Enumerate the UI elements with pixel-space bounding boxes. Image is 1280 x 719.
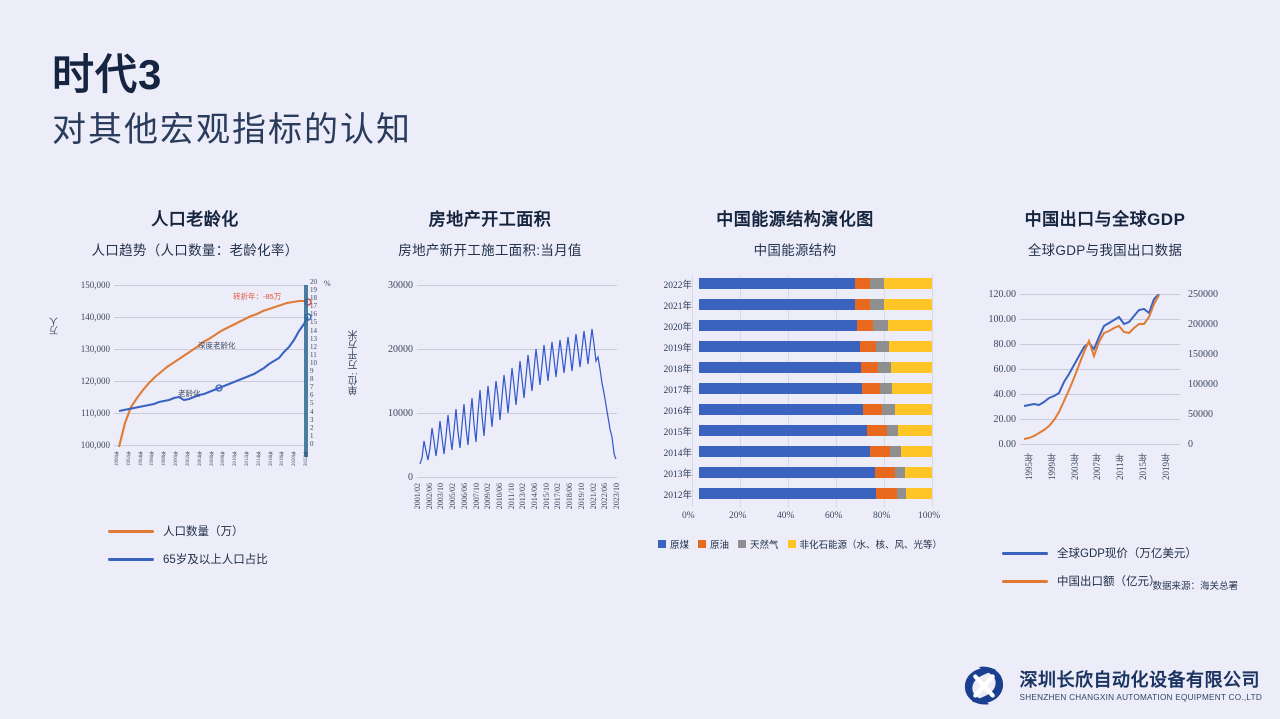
x-tick-20: 20%: [729, 511, 746, 521]
bar-segment: [699, 467, 875, 478]
panel-population-aging: 人口老龄化 人口趋势（人口数量：老龄化率） 万人 150,000 140,000…: [50, 205, 340, 567]
bar-segment: [889, 341, 932, 352]
legend-swatch-coal: [658, 540, 666, 548]
x-tick: 2008年: [220, 451, 227, 466]
bar-track: [699, 299, 932, 310]
panel-subtitle: 房地产新开工施工面积:当月值: [345, 239, 635, 259]
y-tick-0: 0: [359, 472, 413, 483]
bar-segment: [890, 446, 900, 457]
x-tick: 2006/06: [460, 483, 469, 509]
panel-title: 人口老龄化: [50, 205, 340, 230]
bar-segment: [863, 404, 882, 415]
x-tick: 2001/02: [413, 483, 422, 509]
bar-segment: [876, 341, 889, 352]
y-tick-120000: 120,000: [54, 376, 110, 386]
bar-row-label: 2015年: [640, 424, 699, 438]
bar-segment: [870, 299, 884, 310]
stacked-bar-rows: 2022年2021年2020年2019年2018年2017年2016年2015年…: [640, 275, 932, 506]
x-tick: 2013/02: [518, 483, 527, 509]
bar-track: [699, 467, 932, 478]
page-subtitle: 对其他宏观指标的认知: [52, 110, 412, 151]
x-tick-0: 0%: [682, 511, 695, 521]
bar-segment: [878, 362, 891, 373]
bar-track: [699, 404, 932, 415]
bar-row: 2022年: [640, 275, 932, 292]
source-note: 数据来源：海关总署: [1152, 578, 1238, 592]
bar-segment: [699, 362, 861, 373]
legend-item-nonfossil: 非化石能源（水、核、风、光等）: [788, 537, 943, 551]
x-tick: 1994年: [138, 451, 145, 466]
bar-row: 2012年: [640, 485, 932, 502]
bar-segment: [891, 362, 932, 373]
line-plot: [417, 285, 617, 481]
panel-subtitle: 人口趋势（人口数量：老龄化率）: [50, 239, 340, 259]
legend-swatch-population: [108, 530, 154, 533]
company-logo: 深圳长欣自动化设备有限公司 SHENZHEN CHANGXIN AUTOMATI…: [958, 661, 1262, 711]
x-tick: 2002/06: [425, 483, 434, 509]
y-tick-60: 60.00: [960, 364, 1016, 375]
bar-row-label: 2021年: [640, 298, 699, 312]
y2-axis-unit-label: %: [324, 279, 331, 288]
legend-item-global-gdp: 全球GDP现价（万亿美元）: [1002, 545, 1250, 561]
legend-label-oil: 原油: [710, 537, 729, 551]
y-tick-0: 0.00: [960, 439, 1016, 450]
bar-row: 2021年: [640, 296, 932, 313]
x-tick: 2005/02: [448, 483, 457, 509]
x-tick: 2019/10: [577, 483, 586, 509]
x-tick: 2021/02: [589, 483, 598, 509]
bar-row: 2014年: [640, 443, 932, 460]
x-tick-100: 100%: [918, 511, 940, 521]
x-tick: 2015/10: [542, 483, 551, 509]
bar-row: 2020年: [640, 317, 932, 334]
x-tick-60: 60%: [825, 511, 842, 521]
legend-item-elderly-share: 65岁及以上人口占比: [108, 551, 340, 567]
x-tick: 2022/06: [600, 483, 609, 509]
panel-title: 中国出口与全球GDP: [960, 205, 1250, 230]
bar-row-label: 2020年: [640, 319, 699, 333]
bar-row: 2019年: [640, 338, 932, 355]
bar-segment: [887, 425, 899, 436]
legend-label-global-gdp: 全球GDP现价（万亿美元）: [1057, 545, 1197, 561]
bar-segment: [884, 299, 932, 310]
y2-tick-250000: 250000: [1188, 289, 1218, 300]
bar-track: [699, 320, 932, 331]
y-tick-30000: 30000: [359, 280, 413, 291]
y-tick-130000: 130,000: [54, 344, 110, 354]
x-tick: 2012年: [244, 451, 251, 466]
bar-row-label: 2019年: [640, 340, 699, 354]
bar-segment: [905, 467, 932, 478]
bar-segment: [862, 383, 879, 394]
chart-energy-mix: 2022年2021年2020年2019年2018年2017年2016年2015年…: [640, 275, 950, 543]
x-tick: 2007/10: [472, 483, 481, 509]
y-tick-110000: 110,000: [54, 408, 110, 418]
bar-row-label: 2018年: [640, 361, 699, 375]
bar-segment: [699, 488, 876, 499]
panel-subtitle: 中国能源结构: [640, 239, 950, 259]
bar-segment: [888, 320, 932, 331]
y2-tick-50000: 50000: [1188, 409, 1213, 420]
x-tick: 2019年: [1159, 453, 1172, 480]
y-tick-120: 120.00: [960, 289, 1016, 300]
bar-segment: [699, 446, 870, 457]
y-tick-10000: 10000: [359, 408, 413, 419]
y-tick-150000: 150,000: [54, 280, 110, 290]
x-tick: 2018年: [279, 451, 286, 466]
bar-segment: [870, 446, 890, 457]
x-tick: 2000年: [173, 451, 180, 466]
bar-row-label: 2012年: [640, 487, 699, 501]
legend-label-nonfossil: 非化石能源（水、核、风、光等）: [800, 537, 943, 551]
y2-axis-ticks: 20191817161514131211109876543210: [310, 278, 317, 448]
bar-segment: [861, 362, 878, 373]
bar-segment: [882, 404, 895, 415]
chart-exports-global-gdp: 120.00 100.00 80.00 60.00 40.00 20.00 0.…: [960, 275, 1250, 505]
x-tick: 2010/06: [495, 483, 504, 509]
y2-tick-150000: 150000: [1188, 349, 1218, 360]
bar-segment: [699, 320, 857, 331]
bar-segment: [895, 467, 905, 478]
legend-item-oil: 原油: [698, 537, 729, 551]
bar-segment: [875, 467, 895, 478]
y2-tick-0: 0: [1188, 439, 1193, 450]
legend-swatch-oil: [698, 540, 706, 548]
bar-segment: [870, 278, 884, 289]
y-tick-80: 80.00: [960, 339, 1016, 350]
x-tick: 2011年: [1113, 453, 1126, 480]
x-tick: 2011/10: [507, 483, 516, 509]
x-tick: 2003/10: [436, 483, 445, 509]
x-tick: 1990年: [114, 451, 121, 466]
x-tick: 2014年: [256, 451, 263, 466]
bar-row-label: 2017年: [640, 382, 699, 396]
bar-segment: [699, 425, 867, 436]
x-tick: 2022年: [303, 451, 310, 466]
bar-row: 2018年: [640, 359, 932, 376]
bar-segment: [860, 341, 876, 352]
bar-segment: [699, 383, 862, 394]
legend-item-coal: 原煤: [658, 537, 689, 551]
x-tick: 2016年: [268, 451, 275, 466]
x-tick: 2015年: [1136, 453, 1149, 480]
logo-company-name-cn: 深圳长欣自动化设备有限公司: [1020, 670, 1262, 691]
bar-segment: [867, 425, 887, 436]
legend-label-elderly-share: 65岁及以上人口占比: [163, 551, 268, 567]
bar-row-label: 2014年: [640, 445, 699, 459]
bar-segment: [699, 278, 855, 289]
y-tick-100000: 100,000: [54, 440, 110, 450]
x-tick: 2017/02: [553, 483, 562, 509]
bar-segment: [898, 425, 932, 436]
bar-track: [699, 278, 932, 289]
legend: 原煤 原油 天然气 非化石能源（水、核、风、光等）: [658, 537, 942, 551]
bar-track: [699, 446, 932, 457]
x-tick: 2020年: [291, 451, 298, 466]
chart-real-estate-starts: 单位: 万平方米 30000 20000 10000 0 2001/02 200…: [345, 275, 635, 545]
x-tick: 2010年: [232, 451, 239, 466]
x-tick: 2006年: [209, 451, 216, 466]
logo-company-name-en: SHENZHEN CHANGXIN AUTOMATION EQUIPMENT C…: [1020, 693, 1262, 702]
bar-segment: [897, 488, 906, 499]
y-tick-20000: 20000: [359, 344, 413, 355]
panel-energy-mix: 中国能源结构演化图 中国能源结构 2022年2021年2020年2019年201…: [640, 205, 950, 543]
bar-segment: [884, 278, 932, 289]
panel-title: 房地产开工面积: [345, 205, 635, 230]
line-plot: [1020, 294, 1180, 446]
bar-segment: [699, 404, 863, 415]
bar-segment: [880, 383, 893, 394]
x-tick: 2002年: [185, 451, 192, 466]
x-tick-80: 80%: [873, 511, 890, 521]
legend-swatch-china-exports: [1002, 580, 1048, 583]
bar-segment: [855, 278, 870, 289]
bar-segment: [857, 320, 873, 331]
y2-tick-100000: 100000: [1188, 379, 1218, 390]
x-tick: 1992年: [126, 451, 133, 466]
x-tick: 1999年: [1045, 453, 1058, 480]
bar-segment: [892, 383, 932, 394]
bar-row-label: 2022年: [640, 277, 699, 291]
bar-segment: [699, 299, 855, 310]
x-tick: 1996年: [149, 451, 156, 466]
legend-label-coal: 原煤: [670, 537, 689, 551]
bar-segment: [855, 299, 870, 310]
line-plot: [114, 285, 314, 457]
legend-item-population: 人口数量（万）: [108, 523, 340, 539]
y-tick-40: 40.00: [960, 389, 1016, 400]
legend-swatch-nonfossil: [788, 540, 796, 548]
bar-segment: [699, 341, 860, 352]
y-axis-unit-label: 单位: 万平方米: [347, 330, 362, 395]
page-title: 时代3: [52, 52, 162, 98]
x-tick: 1998年: [161, 451, 168, 466]
legend-swatch-gas: [738, 540, 746, 548]
bar-track: [699, 362, 932, 373]
x-tick: 2014/06: [530, 483, 539, 509]
x-tick: 2004年: [197, 451, 204, 466]
x-axis-labels: 1995年 1999年 2003年 2007年 2011年 2015年 2019…: [1022, 453, 1172, 480]
annotation-aging: 老龄化: [178, 388, 201, 399]
x-tick: 2018/06: [565, 483, 574, 509]
bar-segment: [876, 488, 897, 499]
bar-row-label: 2016年: [640, 403, 699, 417]
y-tick-140000: 140,000: [54, 312, 110, 322]
bar-segment: [895, 404, 932, 415]
bar-row: 2015年: [640, 422, 932, 439]
bar-track: [699, 425, 932, 436]
bar-segment: [873, 320, 887, 331]
bar-row-label: 2013年: [640, 466, 699, 480]
logo-mark-icon: [958, 661, 1010, 711]
panel-title: 中国能源结构演化图: [640, 205, 950, 230]
bar-segment: [901, 446, 932, 457]
annotation-turning-year: 转折年：-85万: [233, 291, 281, 302]
y-tick-20: 20.00: [960, 414, 1016, 425]
panel-exports-global-gdp: 中国出口与全球GDP 全球GDP与我国出口数据 120.00 100.00 80…: [960, 205, 1250, 589]
legend-label-gas: 天然气: [750, 537, 779, 551]
x-tick: 2023/10: [612, 483, 621, 509]
bar-row: 2016年: [640, 401, 932, 418]
bar-track: [699, 341, 932, 352]
panel-subtitle: 全球GDP与我国出口数据: [960, 239, 1250, 259]
x-tick: 2003年: [1068, 453, 1081, 480]
legend-swatch-global-gdp: [1002, 552, 1048, 555]
x-axis-labels: 1990年 1992年 1994年 1996年 1998年 2000年 2002…: [114, 451, 310, 466]
y2-tick-200000: 200000: [1188, 319, 1218, 330]
bar-track: [699, 383, 932, 394]
x-tick-40: 40%: [777, 511, 794, 521]
legend-item-gas: 天然气: [738, 537, 779, 551]
chart-population-aging: 万人 150,000 140,000 130,000 120,000 110,0…: [50, 275, 340, 475]
x-tick: 1995年: [1022, 453, 1035, 480]
bar-segment: [906, 488, 932, 499]
annotation-deep-aging: 深度老龄化: [198, 340, 236, 351]
legend-swatch-elderly-share: [108, 558, 154, 561]
legend-label-population: 人口数量（万）: [163, 523, 244, 539]
x-axis-labels: 2001/02 2002/06 2003/10 2005/02 2006/06 …: [413, 483, 621, 509]
x-tick: 2009/02: [483, 483, 492, 509]
x-tick: 2007年: [1090, 453, 1103, 480]
y-tick-100: 100.00: [960, 314, 1016, 325]
bar-track: [699, 488, 932, 499]
bar-row: 2017年: [640, 380, 932, 397]
bar-row: 2013年: [640, 464, 932, 481]
legend-label-china-exports: 中国出口额（亿元）: [1057, 573, 1161, 589]
panel-real-estate-starts: 房地产开工面积 房地产新开工施工面积:当月值 单位: 万平方米 30000 20…: [345, 205, 635, 545]
